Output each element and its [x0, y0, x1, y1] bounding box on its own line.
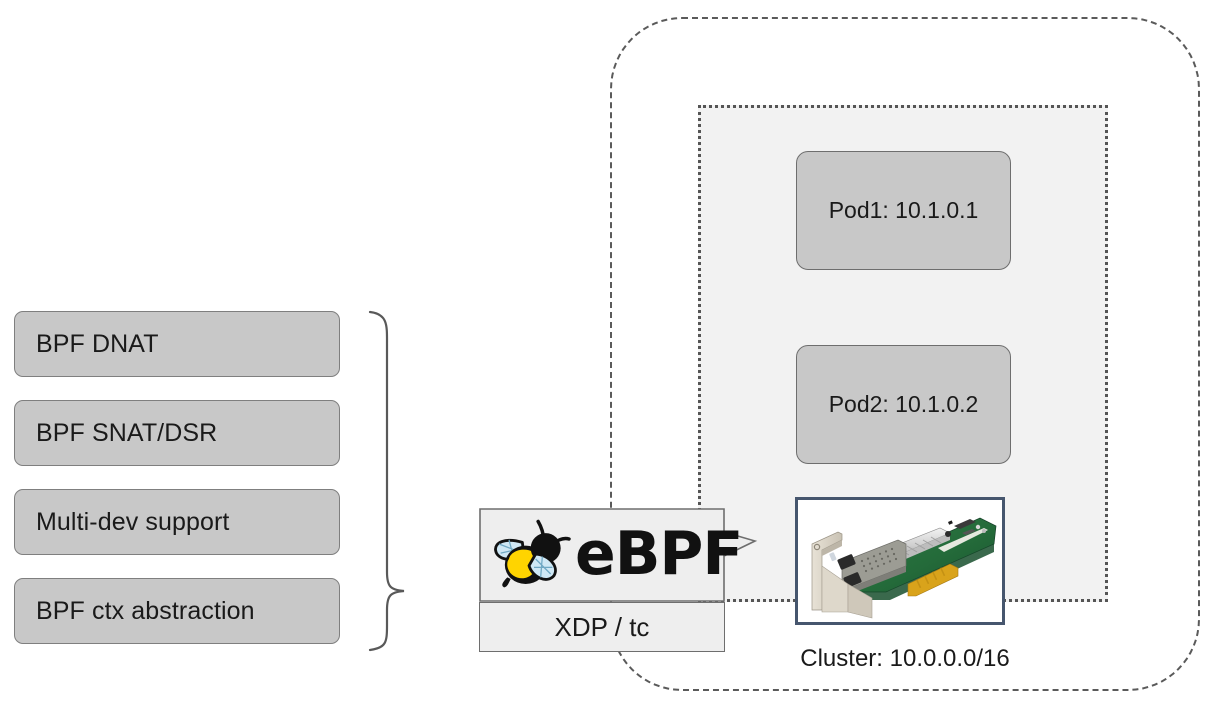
curly-brace-icon: [360, 300, 420, 660]
xdp-tc-box: XDP / tc: [479, 602, 725, 652]
ebpf-callout: eBPF: [479, 508, 725, 602]
ebpf-logo: eBPF: [487, 512, 715, 596]
feature-box-bpf-snat-dsr: BPF SNAT/DSR: [14, 400, 340, 466]
feature-box-bpf-dnat: BPF DNAT: [14, 311, 340, 377]
pod-label: Pod1: 10.1.0.1: [829, 197, 979, 224]
feature-label: Multi-dev support: [36, 508, 229, 537]
feature-label: BPF SNAT/DSR: [36, 419, 217, 448]
xdp-tc-label: XDP / tc: [555, 612, 650, 643]
pod-box-2: Pod2: 10.1.0.2: [796, 345, 1011, 464]
cluster-label: Cluster: 10.0.0.0/16: [760, 645, 1050, 673]
pod-label: Pod2: 10.1.0.2: [829, 391, 979, 418]
nic-image-frame: [795, 497, 1005, 625]
network-interface-card-icon: [798, 500, 1002, 622]
bee-icon: [491, 519, 577, 589]
diagram-canvas: BPF DNAT BPF SNAT/DSR Multi-dev support …: [0, 0, 1212, 702]
ebpf-wordmark: eBPF: [575, 524, 742, 584]
feature-label: BPF ctx abstraction: [36, 597, 255, 626]
pod-box-1: Pod1: 10.1.0.1: [796, 151, 1011, 270]
feature-label: BPF DNAT: [36, 330, 159, 359]
feature-box-bpf-ctx-abstraction: BPF ctx abstraction: [14, 578, 340, 644]
feature-box-multi-dev-support: Multi-dev support: [14, 489, 340, 555]
